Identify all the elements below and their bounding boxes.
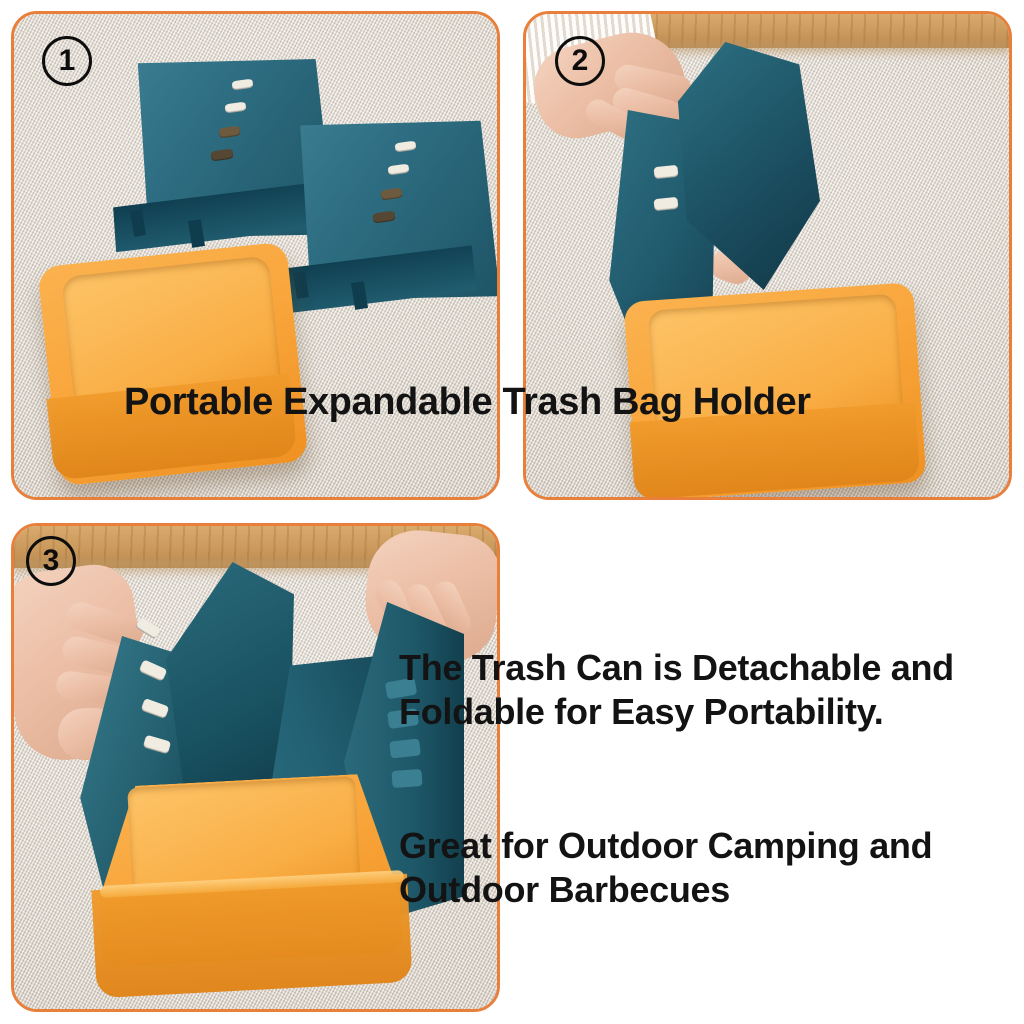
product-photo-2 (526, 14, 1009, 497)
feature-paragraph-1-line-1: The Trash Can is Detachable and (399, 646, 1021, 690)
teal-front-slot-1 (653, 165, 678, 179)
product-panel-2: 2 (523, 11, 1012, 500)
infographic-canvas: 1 2 (0, 0, 1024, 1024)
step-badge-2: 2 (555, 36, 605, 86)
teal-tab-3 (389, 738, 421, 758)
feature-paragraph-2-line-1: Great for Outdoor Camping and (399, 824, 1021, 868)
step-badge-3: 3 (26, 536, 76, 586)
feature-paragraph-1-line-2: Foldable for Easy Portability. (399, 690, 1021, 734)
product-photo-1 (14, 14, 497, 497)
teal-front-slot-2 (653, 197, 678, 211)
main-title: Portable Expandable Trash Bag Holder (124, 381, 811, 424)
feature-paragraph-2-line-2: Outdoor Barbecues (399, 868, 1021, 912)
teal-tab-4 (391, 769, 422, 788)
product-panel-3 (11, 523, 500, 1012)
feature-paragraph-1: The Trash Can is Detachable and Foldable… (399, 646, 1021, 734)
product-photo-3 (14, 526, 497, 1009)
product-panel-1: 1 (11, 11, 500, 500)
step-badge-1: 1 (42, 36, 92, 86)
feature-paragraph-2: Great for Outdoor Camping and Outdoor Ba… (399, 824, 1021, 912)
